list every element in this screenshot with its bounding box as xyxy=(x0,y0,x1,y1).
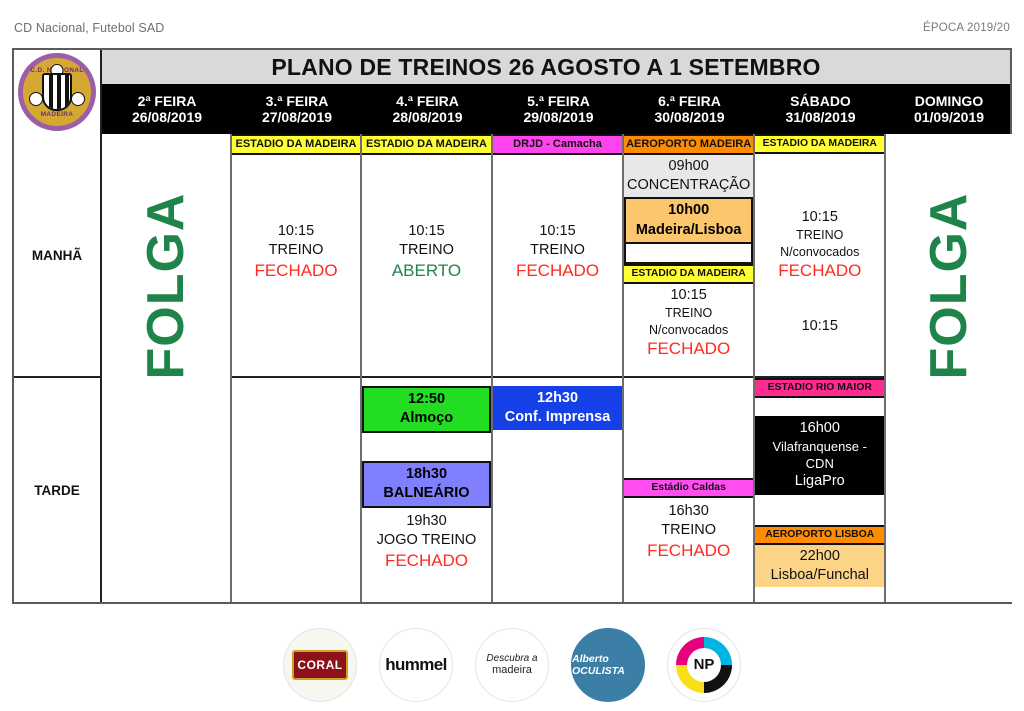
venue-badge-airport: AEROPORTO LISBOA xyxy=(755,525,884,545)
venue-badge-match: ESTADIO RIO MAIOR xyxy=(755,378,884,398)
cell-sunday-morning[interactable]: FOLGA xyxy=(886,134,1012,378)
practice-match-block: 19h30 JOGO TREINO FECHADO xyxy=(362,508,491,575)
day-header-thursday: 5.ª FEIRA 29/08/2019 xyxy=(493,84,624,134)
flight-route: Lisboa/Funchal xyxy=(757,566,882,585)
sponsor-logo-hummel: hummel xyxy=(379,628,453,702)
session-block: 10:15 TREINO N/convocados FECHADO xyxy=(755,206,884,285)
day-column-monday: FOLGA xyxy=(102,134,232,602)
session-status: FECHADO xyxy=(758,260,881,282)
schedule-grid: MANHÃ TARDE FOLGA ESTADIO DA MADEIRA 10:… xyxy=(14,134,1010,602)
session-block: 10:15 TREINO ABERTO xyxy=(362,220,491,285)
venue-badge-airport: AEROPORTO MADEIRA xyxy=(624,134,753,155)
flight-time: 10h00 xyxy=(629,201,748,220)
session-activity: TREINO N/convocados xyxy=(758,227,881,260)
locker-block: 18h30 BALNEÁRIO xyxy=(362,461,491,508)
folga-label: FOLGA xyxy=(919,193,979,378)
session-block: 10:15 TREINO FECHADO xyxy=(232,220,360,285)
season-label: ÉPOCA 2019/20 xyxy=(923,22,1010,34)
day-date: 30/08/2019 xyxy=(654,109,724,125)
venue-badge: Estádio Caldas xyxy=(624,478,753,498)
lunch-block: 12:50 Almoço xyxy=(362,386,491,433)
locker-time: 18h30 xyxy=(367,465,486,484)
match-competition: LigaPro xyxy=(757,472,882,491)
day-name: 5.ª FEIRA xyxy=(527,93,590,109)
day-name: 2ª FEIRA xyxy=(138,93,197,109)
plan-title-bar: PLANO DE TREINOS 26 AGOSTO A 1 SETEMBRO xyxy=(14,50,1010,84)
sponsor-label: hummel xyxy=(385,655,447,675)
session-time: 10:15 xyxy=(365,222,488,241)
day-name: SÁBADO xyxy=(790,93,851,109)
day-date: 29/08/2019 xyxy=(523,109,593,125)
cell-sunday-afternoon[interactable] xyxy=(886,378,1012,602)
press-label: Conf. Imprensa xyxy=(496,408,619,427)
session-block: 10:15 TREINO FECHADO xyxy=(493,220,622,285)
session-activity: TREINO N/convocados xyxy=(627,305,750,338)
day-column-sunday: FOLGA xyxy=(886,134,1012,602)
session-status: FECHADO xyxy=(627,540,750,562)
venue-badge: ESTADIO DA MADEIRA xyxy=(755,134,884,154)
day-column-wednesday: ESTADIO DA MADEIRA 10:15 TREINO ABERTO 1… xyxy=(362,134,493,602)
day-column-tuesday: ESTADIO DA MADEIRA 10:15 TREINO FECHADO xyxy=(232,134,362,602)
day-header-wednesday: 4.ª FEIRA 28/08/2019 xyxy=(362,84,493,134)
session-time: 10:15 xyxy=(758,208,881,227)
cell-monday-afternoon[interactable] xyxy=(102,378,230,602)
cell-wednesday-morning[interactable]: ESTADIO DA MADEIRA 10:15 TREINO ABERTO xyxy=(362,134,491,378)
club-crest-cell: C.D. NACIONAL MADEIRA xyxy=(14,50,102,134)
session-time: 10:15 xyxy=(627,286,750,305)
meeting-time: 09h00 xyxy=(627,157,750,176)
venue-badge-stadium: ESTADIO DA MADEIRA xyxy=(624,264,753,284)
sponsor-label-line2: madeira xyxy=(492,664,532,676)
day-date: 31/08/2019 xyxy=(785,109,855,125)
cell-friday-morning[interactable]: AEROPORTO MADEIRA 09h00 CONCENTRAÇÃO 10h… xyxy=(624,134,753,378)
meeting-label: CONCENTRAÇÃO xyxy=(627,176,750,195)
day-header-sunday: DOMINGO 01/09/2019 xyxy=(886,84,1012,134)
session-status: FECHADO xyxy=(496,260,619,282)
flight-route: Madeira/Lisboa xyxy=(629,221,748,240)
match-block: 16h00 Vilafranquense - CDN LigaPro xyxy=(755,416,884,495)
sponsor-label: NP xyxy=(694,656,715,673)
folga-label: FOLGA xyxy=(136,193,196,378)
top-strip: CD Nacional, Futebol SAD ÉPOCA 2019/20 xyxy=(0,0,1024,44)
practice-match-time: 19h30 xyxy=(365,512,488,531)
venue-badge: ESTADIO DA MADEIRA xyxy=(362,134,491,155)
session-block: 16h30 TREINO FECHADO xyxy=(624,498,753,565)
sponsor-label: Alberto OCULISTA xyxy=(572,653,644,677)
crest-bottom-text: MADEIRA xyxy=(41,111,74,118)
cell-saturday-afternoon[interactable]: ESTADIO RIO MAIOR 16h00 Vilafranquense -… xyxy=(755,378,884,602)
match-time: 16h00 xyxy=(757,419,882,438)
day-name: 4.ª FEIRA xyxy=(396,93,459,109)
club-crest-icon: C.D. NACIONAL MADEIRA xyxy=(18,53,96,131)
day-name: 6.ª FEIRA xyxy=(658,93,721,109)
session-activity: TREINO xyxy=(627,521,750,540)
venue-badge: DRJD - Camacha xyxy=(493,134,622,155)
press-conference-block: 12h30 Conf. Imprensa xyxy=(493,386,622,430)
flight-block: 10h00 Madeira/Lisboa xyxy=(624,197,753,244)
session-time: 16h30 xyxy=(627,502,750,521)
meeting-block: 09h00 CONCENTRAÇÃO xyxy=(624,155,753,197)
sponsor-logo-descubra-a-madeira: Descubra a madeira xyxy=(475,628,549,702)
practice-match-label: JOGO TREINO xyxy=(365,531,488,550)
lunch-label: Almoço xyxy=(367,409,486,428)
day-header-monday: 2ª FEIRA 26/08/2019 xyxy=(102,84,232,134)
cell-friday-afternoon[interactable]: Estádio Caldas 16h30 TREINO FECHADO xyxy=(624,378,753,602)
sponsor-logo-alberto-oculista: Alberto OCULISTA xyxy=(571,628,645,702)
crest-left-ball-icon xyxy=(29,92,43,106)
cell-monday-morning[interactable]: FOLGA xyxy=(102,134,230,378)
cell-wednesday-afternoon[interactable]: 12:50 Almoço 18h30 BALNEÁRIO 19h30 JOGO … xyxy=(362,378,491,602)
flight-time: 22h00 xyxy=(757,547,882,566)
practice-match-status: FECHADO xyxy=(365,550,488,572)
cell-saturday-morning[interactable]: ESTADIO DA MADEIRA 10:15 TREINO N/convoc… xyxy=(755,134,884,378)
day-date: 01/09/2019 xyxy=(914,109,984,125)
press-time: 12h30 xyxy=(496,389,619,408)
crest-shield-icon xyxy=(42,73,72,111)
cell-tuesday-afternoon[interactable] xyxy=(232,378,360,602)
day-name: DOMINGO xyxy=(915,93,983,109)
row-label-morning: MANHÃ xyxy=(14,134,100,378)
day-column-friday: AEROPORTO MADEIRA 09h00 CONCENTRAÇÃO 10h… xyxy=(624,134,755,602)
venue-badge: ESTADIO DA MADEIRA xyxy=(232,134,360,155)
day-column-thursday: DRJD - Camacha 10:15 TREINO FECHADO 12h3… xyxy=(493,134,624,602)
locker-label: BALNEÁRIO xyxy=(367,484,486,503)
cell-thursday-morning[interactable]: DRJD - Camacha 10:15 TREINO FECHADO xyxy=(493,134,622,378)
flight-block: 22h00 Lisboa/Funchal xyxy=(755,545,884,587)
day-date: 27/08/2019 xyxy=(262,109,332,125)
day-date: 26/08/2019 xyxy=(132,109,202,125)
sponsor-label-line1: Descubra a xyxy=(486,653,537,664)
cell-tuesday-morning[interactable]: ESTADIO DA MADEIRA 10:15 TREINO FECHADO xyxy=(232,134,360,378)
day-date: 28/08/2019 xyxy=(392,109,462,125)
session-time-secondary: 10:15 xyxy=(755,318,884,334)
training-plan-table: PLANO DE TREINOS 26 AGOSTO A 1 SETEMBRO … xyxy=(12,48,1012,604)
session-activity: TREINO xyxy=(235,241,357,260)
sponsor-label: CORAL xyxy=(297,658,342,672)
session-block: 10:15 TREINO N/convocados FECHADO xyxy=(624,284,753,363)
sponsor-logo-bar: CORAL hummel Descubra a madeira Alberto … xyxy=(0,618,1024,711)
session-time: 10:15 xyxy=(496,222,619,241)
lunch-time: 12:50 xyxy=(367,390,486,409)
match-teams: Vilafranquense - CDN xyxy=(757,438,882,472)
row-label-column: MANHÃ TARDE xyxy=(14,134,102,602)
page-title: PLANO DE TREINOS 26 AGOSTO A 1 SETEMBRO xyxy=(203,54,820,81)
day-header-saturday: SÁBADO 31/08/2019 xyxy=(755,84,886,134)
sponsor-logo-np-publicidade: NP xyxy=(667,628,741,702)
row-label-afternoon: TARDE xyxy=(14,378,100,602)
day-column-saturday: ESTADIO DA MADEIRA 10:15 TREINO N/convoc… xyxy=(755,134,886,602)
club-name: CD Nacional, Futebol SAD xyxy=(14,21,164,35)
session-activity: TREINO xyxy=(496,241,619,260)
session-activity: TREINO xyxy=(365,241,488,260)
day-header-tuesday: 3.ª FEIRA 27/08/2019 xyxy=(232,84,362,134)
day-header-row: 2ª FEIRA 26/08/2019 3.ª FEIRA 27/08/2019… xyxy=(102,84,1010,134)
cell-thursday-afternoon[interactable]: 12h30 Conf. Imprensa xyxy=(493,378,622,602)
session-time: 10:15 xyxy=(235,222,357,241)
gap-block xyxy=(624,244,753,264)
sponsor-logo-coral: CORAL xyxy=(283,628,357,702)
session-status: FECHADO xyxy=(627,338,750,360)
day-name: 3.ª FEIRA xyxy=(266,93,329,109)
crest-right-ball-icon xyxy=(71,92,85,106)
session-status: FECHADO xyxy=(235,260,357,282)
session-status: ABERTO xyxy=(365,260,488,282)
day-header-friday: 6.ª FEIRA 30/08/2019 xyxy=(624,84,755,134)
